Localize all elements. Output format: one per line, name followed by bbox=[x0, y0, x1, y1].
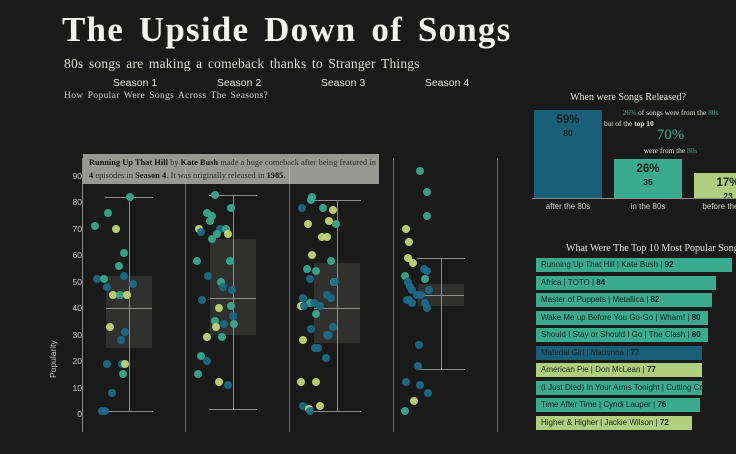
right-column: When were Songs Released? 59%80after the… bbox=[520, 0, 736, 454]
song-bar-row[interactable]: Higher & Higher | Jackie Wilson | 72 bbox=[536, 416, 692, 430]
release-category-label: before the 80s bbox=[694, 202, 736, 211]
scatter-point bbox=[405, 238, 413, 246]
scatter-point bbox=[319, 204, 327, 212]
song-bar-row[interactable]: Should I Stay or Should I Go | The Clash… bbox=[536, 328, 708, 342]
scatter-point bbox=[297, 378, 305, 386]
scatter-point bbox=[327, 257, 335, 265]
y-tick-label: 40 bbox=[58, 303, 82, 313]
y-tick-label: 10 bbox=[58, 383, 82, 393]
scatter-point bbox=[424, 389, 432, 397]
boxplot-whisker-cap bbox=[313, 411, 361, 412]
release-category-label: after the 80s bbox=[534, 202, 602, 211]
scatter-point bbox=[306, 407, 314, 415]
page-title: The Upside Down of Songs bbox=[62, 10, 511, 50]
scatter-point bbox=[425, 286, 433, 294]
callout-big-number: 70% bbox=[598, 127, 736, 144]
season-label-4: Season 4 bbox=[395, 77, 499, 89]
section-question: How Popular Were Songs Across The Season… bbox=[64, 91, 268, 101]
scatter-point bbox=[203, 357, 211, 365]
song-bar-row[interactable]: (I Just Died) In Your Arms Tonight | Cut… bbox=[536, 381, 702, 395]
infographic-root: The Upside Down of Songs 80s songs are m… bbox=[0, 0, 736, 454]
song-bar-row[interactable]: Running Up That Hill | Kate Bush | 92 bbox=[536, 258, 732, 272]
scatter-point bbox=[316, 402, 324, 410]
release-bar-percent: 59% bbox=[534, 114, 602, 126]
scatter-point bbox=[215, 304, 223, 312]
scatter-point bbox=[402, 378, 410, 386]
scatter-point bbox=[415, 341, 423, 349]
annotation-box: Running Up That Hill by Kate Bush made a… bbox=[83, 154, 379, 184]
boxplot-whisker-line bbox=[441, 258, 442, 369]
boxplot-whisker-cap bbox=[209, 409, 257, 410]
song-label: Should I Stay or Should I Go | The Clash… bbox=[541, 330, 701, 339]
scatter-point bbox=[421, 275, 429, 283]
song-bar-row[interactable]: Wake Me up Before You Go-Go | Wham! | 80 bbox=[536, 311, 708, 325]
song-label: (I Just Died) In Your Arms Tonight | Cut… bbox=[541, 383, 717, 392]
scatter-point bbox=[211, 191, 219, 199]
release-bar-percent: 26% bbox=[614, 163, 682, 175]
y-tick-label: 60 bbox=[58, 250, 82, 260]
song-label: Running Up That Hill | Kate Bush | 92 bbox=[541, 260, 674, 269]
top-songs-title: What Were The Top 10 Most Popular Songs bbox=[566, 243, 736, 254]
scatter-point bbox=[198, 296, 206, 304]
scatter-point bbox=[193, 257, 201, 265]
scatter-point bbox=[423, 212, 431, 220]
scatter-point bbox=[119, 370, 127, 378]
scatter-point bbox=[103, 283, 111, 291]
song-bar-row[interactable]: Time After Time | Cyndi Lauper | 76 bbox=[536, 398, 700, 412]
boxplot-whisker-cap bbox=[105, 411, 153, 412]
song-bar-row[interactable]: Material Girl | Madonna | 77 bbox=[536, 346, 702, 360]
song-label: Africa | TOTO | 84 bbox=[541, 278, 605, 287]
scatter-point bbox=[227, 204, 235, 212]
callout-line-1: 26% of songs were from the 80s bbox=[598, 108, 736, 117]
scatter-point bbox=[226, 257, 234, 265]
y-tick-label: 90 bbox=[58, 171, 82, 181]
scatter-point bbox=[303, 265, 311, 273]
panel-separator bbox=[185, 158, 186, 432]
release-bar-count: 80 bbox=[534, 128, 602, 138]
scatter-point bbox=[423, 304, 431, 312]
popularity-scatter-chart: Popularity 0102030405060708090 Season 1S… bbox=[0, 108, 520, 448]
scatter-point bbox=[300, 302, 308, 310]
release-bar-3[interactable]: 17%23 bbox=[694, 173, 736, 198]
scatter-point bbox=[299, 336, 307, 344]
release-bar-count: 35 bbox=[614, 177, 682, 187]
scatter-point bbox=[423, 188, 431, 196]
annotation-text: Running Up That Hill by Kate Bush made a… bbox=[89, 157, 377, 182]
scatter-point bbox=[230, 320, 238, 328]
plot-area: Season 1Season 2Season 3Season 4Running … bbox=[83, 108, 516, 448]
scatter-point bbox=[104, 209, 112, 217]
scatter-point bbox=[304, 220, 312, 228]
panel-separator bbox=[289, 158, 290, 432]
scatter-point bbox=[108, 389, 116, 397]
scatter-point bbox=[323, 233, 331, 241]
song-label: American Pie | Don McLean | 77 bbox=[541, 365, 656, 374]
scatter-point bbox=[410, 397, 418, 405]
scatter-point bbox=[194, 370, 202, 378]
scatter-point bbox=[120, 249, 128, 257]
scatter-point bbox=[212, 323, 220, 331]
scatter-point bbox=[112, 225, 120, 233]
song-bar-row[interactable]: Master of Puppets | Metallica | 82 bbox=[536, 293, 712, 307]
season-label-1: Season 1 bbox=[83, 77, 187, 89]
scatter-point bbox=[322, 354, 330, 362]
y-tick-label: 0 bbox=[58, 409, 82, 419]
boxplot-median bbox=[210, 298, 256, 299]
song-label: Time After Time | Cyndi Lauper | 76 bbox=[541, 400, 666, 409]
release-bar-2[interactable]: 26%35 bbox=[614, 159, 682, 198]
release-bar-percent: 17% bbox=[694, 177, 736, 189]
y-axis-ticks: 0102030405060708090 bbox=[56, 108, 82, 448]
scatter-point bbox=[401, 407, 409, 415]
release-category-label: in the 80s bbox=[614, 202, 682, 211]
song-bar-row[interactable]: American Pie | Don McLean | 77 bbox=[536, 363, 702, 377]
scatter-point bbox=[218, 333, 226, 341]
y-tick-label: 30 bbox=[58, 330, 82, 340]
scatter-point bbox=[106, 323, 114, 331]
release-bar-1[interactable]: 59%80 bbox=[534, 110, 602, 198]
song-bar-row[interactable]: Africa | TOTO | 84 bbox=[536, 276, 716, 290]
scatter-point bbox=[227, 302, 235, 310]
y-tick-label: 70 bbox=[58, 224, 82, 234]
song-label: Material Girl | Madonna | 77 bbox=[541, 348, 639, 357]
scatter-point bbox=[416, 381, 424, 389]
scatter-point bbox=[423, 267, 431, 275]
scatter-point bbox=[197, 228, 205, 236]
scatter-point bbox=[327, 294, 335, 302]
song-label: Wake Me up Before You Go-Go | Wham! | 80 bbox=[541, 313, 701, 322]
y-tick-label: 80 bbox=[58, 197, 82, 207]
release-bar-count: 23 bbox=[694, 191, 736, 201]
scatter-point bbox=[103, 360, 111, 368]
scatter-point bbox=[101, 407, 109, 415]
scatter-point bbox=[203, 333, 211, 341]
page-subtitle: 80s songs are making a comeback thanks t… bbox=[64, 56, 420, 72]
scatter-point bbox=[121, 328, 129, 336]
release-chart-title: When were Songs Released? bbox=[520, 92, 736, 103]
panel-separator bbox=[393, 158, 394, 432]
scatter-point bbox=[224, 381, 232, 389]
scatter-point bbox=[329, 206, 337, 214]
scatter-point bbox=[416, 167, 424, 175]
scatter-point bbox=[332, 220, 340, 228]
scatter-point bbox=[308, 251, 316, 259]
scatter-point bbox=[228, 286, 236, 294]
boxplot-box bbox=[106, 276, 152, 347]
scatter-point bbox=[206, 217, 214, 225]
season-label-2: Season 2 bbox=[187, 77, 291, 89]
scatter-point bbox=[298, 204, 306, 212]
y-axis-line bbox=[82, 158, 83, 432]
boxplot-whisker-cap bbox=[417, 258, 465, 259]
song-label: Master of Puppets | Metallica | 82 bbox=[541, 295, 659, 304]
scatter-point bbox=[115, 262, 123, 270]
scatter-point bbox=[329, 323, 337, 331]
panel-separator bbox=[497, 158, 498, 432]
scatter-point bbox=[402, 225, 410, 233]
release-axis-line bbox=[532, 198, 736, 199]
scatter-point bbox=[219, 283, 227, 291]
boxplot-median bbox=[106, 308, 152, 309]
season-label-3: Season 3 bbox=[291, 77, 395, 89]
scatter-point bbox=[312, 378, 320, 386]
boxplot-whisker-cap bbox=[417, 369, 465, 370]
scatter-point bbox=[126, 193, 134, 201]
song-label: Higher & Higher | Jackie Wilson | 72 bbox=[541, 418, 669, 427]
scatter-point bbox=[316, 302, 324, 310]
scatter-point bbox=[121, 360, 129, 368]
scatter-point bbox=[409, 259, 417, 267]
boxplot-whisker-cap bbox=[313, 200, 361, 201]
scatter-point bbox=[312, 310, 320, 318]
scatter-point bbox=[215, 378, 223, 386]
scatter-point bbox=[224, 230, 232, 238]
callout-line-4: were from the 80s bbox=[598, 146, 736, 155]
y-tick-label: 20 bbox=[58, 356, 82, 366]
scatter-point bbox=[314, 344, 322, 352]
scatter-point bbox=[220, 320, 228, 328]
scatter-point bbox=[91, 222, 99, 230]
y-tick-label: 50 bbox=[58, 277, 82, 287]
scatter-point bbox=[408, 299, 416, 307]
